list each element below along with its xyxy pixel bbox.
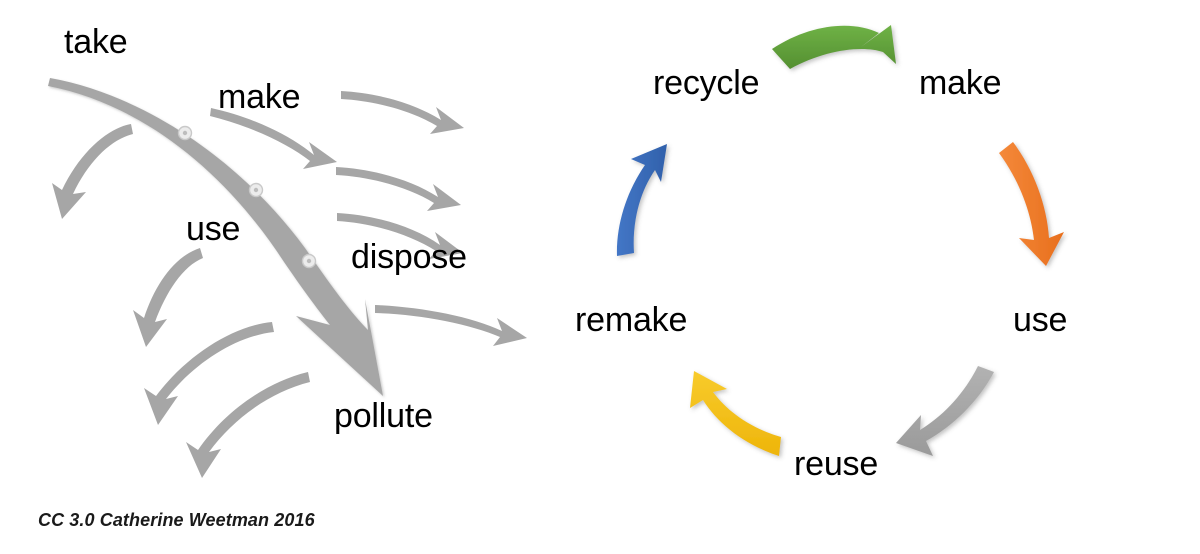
arrow-use-to-reuse	[896, 366, 994, 456]
label-linear-use: use	[186, 212, 240, 246]
arrow-remake-to-recycle	[617, 144, 667, 256]
copyright-credit: CC 3.0 Catherine Weetman 2016	[38, 510, 315, 531]
label-linear-take: take	[64, 25, 127, 59]
diagram-canvas: take make use dispose pollute recycle ma…	[0, 0, 1200, 554]
label-circular-make: make	[919, 66, 1001, 100]
label-linear-dispose: dispose	[351, 240, 467, 274]
label-linear-pollute: pollute	[334, 399, 433, 433]
label-circular-recycle: recycle	[653, 66, 759, 100]
label-circular-reuse: reuse	[794, 447, 878, 481]
label-circular-use: use	[1013, 303, 1067, 337]
arrow-make-to-use	[999, 142, 1064, 266]
arrow-reuse-to-remake	[690, 371, 781, 456]
label-circular-remake: remake	[575, 303, 687, 337]
label-linear-make: make	[218, 80, 300, 114]
circular-economy-svg	[0, 0, 1200, 554]
arrow-recycle-to-make	[772, 25, 896, 69]
